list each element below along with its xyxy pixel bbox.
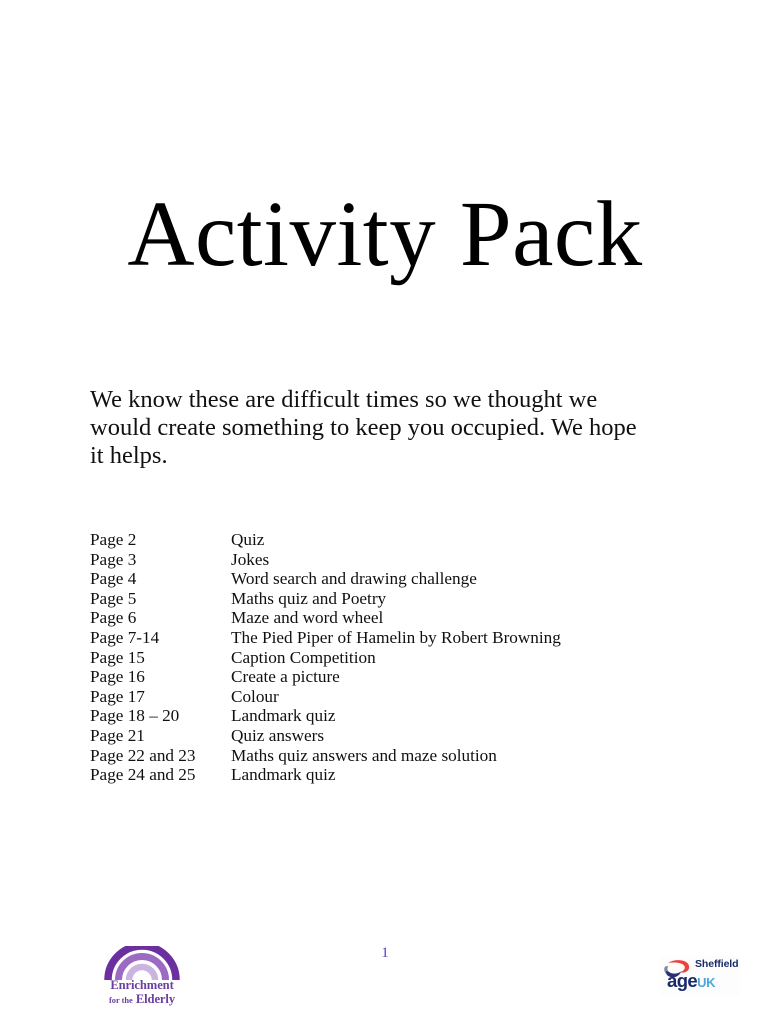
contents-page-label: Page 17 [90,687,231,707]
contents-description: Maths quiz and Poetry [231,589,710,609]
rainbow-arcs-icon [104,946,180,980]
contents-description: Caption Competition [231,648,710,668]
contents-description: Jokes [231,550,710,570]
logo-text-uk: UK [697,975,715,990]
contents-page-label: Page 5 [90,589,231,609]
contents-description: Colour [231,687,710,707]
logo-line-for-the-elderly: for the Elderly [100,993,184,1008]
contents-list: Page 2 Quiz Page 3 Jokes Page 4 Word sea… [90,530,710,785]
contents-row: Page 5 Maths quiz and Poetry [90,589,710,609]
enrichment-wordmark: Enrichment for the Elderly [100,979,184,1007]
contents-row: Page 17 Colour [90,687,710,707]
contents-page-label: Page 7-14 [90,628,231,648]
contents-page-label: Page 2 [90,530,231,550]
contents-description: Maths quiz answers and maze solution [231,746,710,766]
contents-row: Page 3 Jokes [90,550,710,570]
contents-page-label: Page 18 – 20 [90,706,231,726]
intro-paragraph: We know these are difficult times so we … [90,386,642,469]
contents-page-label: Page 24 and 25 [90,765,231,785]
contents-description: Landmark quiz [231,765,710,785]
contents-row: Page 4 Word search and drawing challenge [90,569,710,589]
contents-row: Page 24 and 25 Landmark quiz [90,765,710,785]
contents-row: Page 16 Create a picture [90,667,710,687]
contents-description: Quiz answers [231,726,710,746]
age-uk-sheffield-logo: Sheffield ageUK [660,956,740,995]
contents-page-label: Page 21 [90,726,231,746]
logo-text-elderly: Elderly [136,992,175,1006]
document-page: Activity Pack We know these are difficul… [0,0,770,1024]
contents-description: Create a picture [231,667,710,687]
contents-row: Page 6 Maze and word wheel [90,608,710,628]
contents-row: Page 21 Quiz answers [90,726,710,746]
enrichment-for-the-elderly-logo: Enrichment for the Elderly [100,946,184,1008]
contents-description: Quiz [231,530,710,550]
contents-row: Page 7-14 The Pied Piper of Hamelin by R… [90,628,710,648]
contents-page-label: Page 3 [90,550,231,570]
contents-page-label: Page 16 [90,667,231,687]
contents-page-label: Page 6 [90,608,231,628]
contents-row: Page 15 Caption Competition [90,648,710,668]
contents-row: Page 22 and 23 Maths quiz answers and ma… [90,746,710,766]
contents-description: The Pied Piper of Hamelin by Robert Brow… [231,628,710,648]
contents-description: Word search and drawing challenge [231,569,710,589]
page-title: Activity Pack [0,186,770,284]
contents-description: Landmark quiz [231,706,710,726]
contents-row: Page 18 – 20 Landmark quiz [90,706,710,726]
contents-page-label: Page 15 [90,648,231,668]
contents-description: Maze and word wheel [231,608,710,628]
contents-page-label: Page 22 and 23 [90,746,231,766]
contents-page-label: Page 4 [90,569,231,589]
logo-text-sheffield: Sheffield [695,959,738,970]
logo-text-age-uk: ageUK [667,971,715,992]
contents-row: Page 2 Quiz [90,530,710,550]
logo-line-enrichment: Enrichment [100,979,184,993]
logo-text-for-the: for the [109,996,133,1005]
logo-text-age: age [667,970,697,991]
